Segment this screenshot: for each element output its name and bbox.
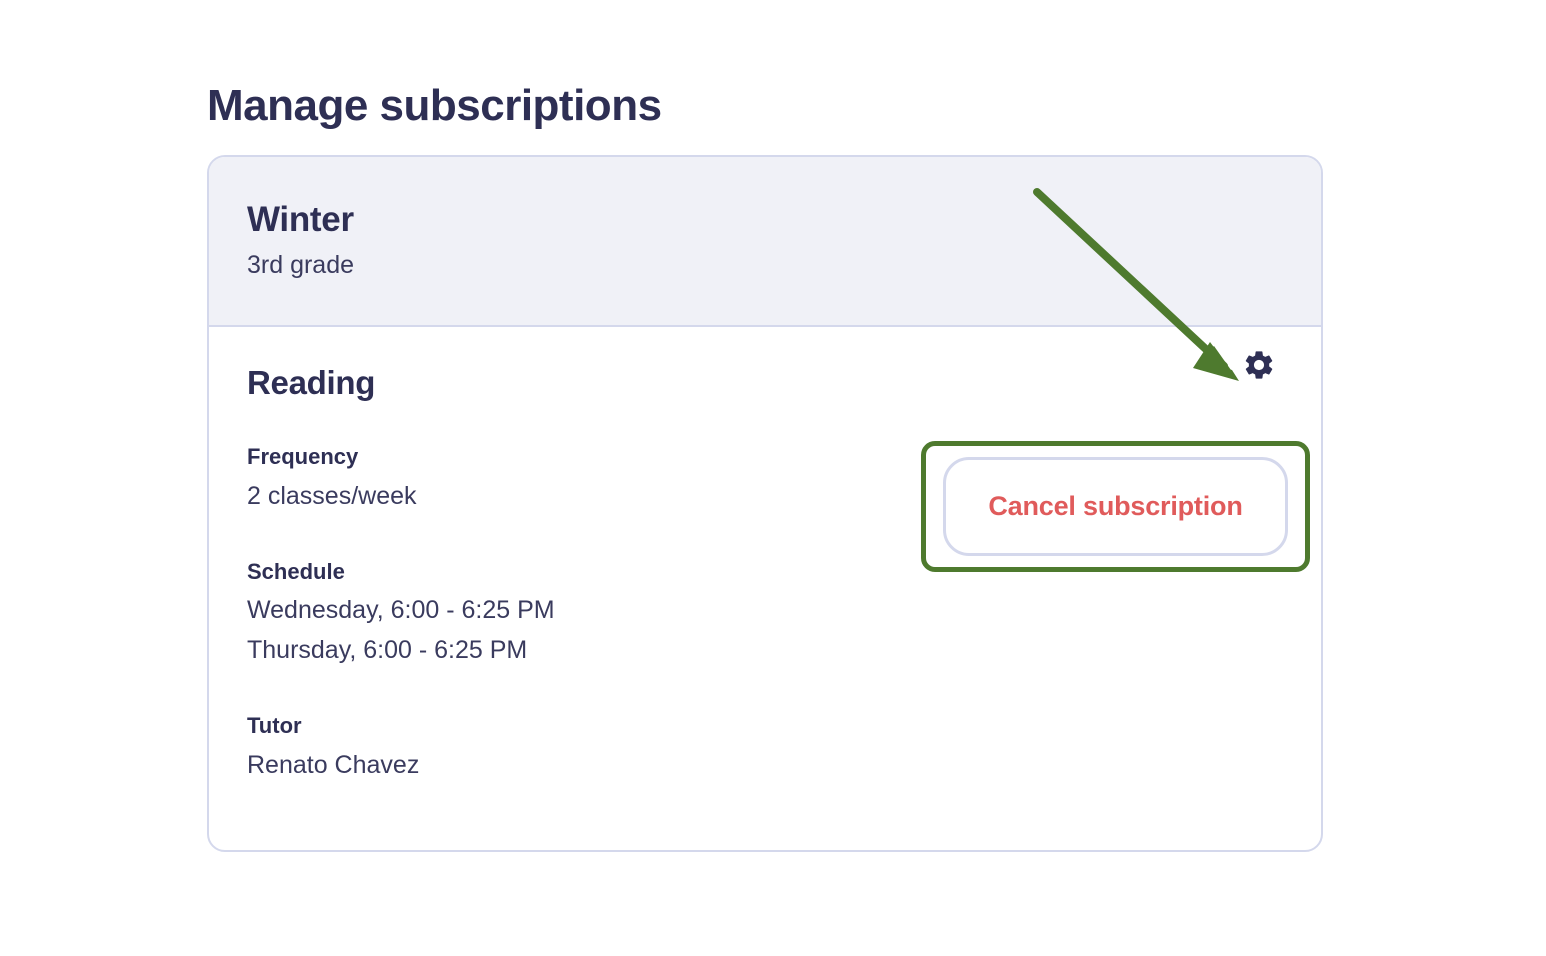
cancel-subscription-label: Cancel subscription <box>988 491 1242 522</box>
card-header: Winter 3rd grade <box>209 157 1321 327</box>
grade-label: 3rd grade <box>247 250 1321 280</box>
schedule-label: Schedule <box>247 558 1321 586</box>
gear-icon <box>1242 348 1276 382</box>
tutor-value: Renato Chavez <box>247 745 1321 785</box>
detail-group-tutor: Tutor Renato Chavez <box>247 712 1321 785</box>
cancel-subscription-button[interactable]: Cancel subscription <box>943 457 1288 556</box>
card-body: Reading Frequency 2 classes/week Schedul… <box>209 327 1321 850</box>
schedule-value-line-1: Wednesday, 6:00 - 6:25 PM <box>247 590 1321 630</box>
detail-group-schedule: Schedule Wednesday, 6:00 - 6:25 PM Thurs… <box>247 558 1321 671</box>
tutor-label: Tutor <box>247 712 1321 740</box>
schedule-value-line-2: Thursday, 6:00 - 6:25 PM <box>247 630 1321 670</box>
term-name: Winter <box>247 201 1321 240</box>
page-title: Manage subscriptions <box>207 81 662 131</box>
gear-settings-button[interactable] <box>1239 345 1279 385</box>
subject-title: Reading <box>247 365 1321 401</box>
